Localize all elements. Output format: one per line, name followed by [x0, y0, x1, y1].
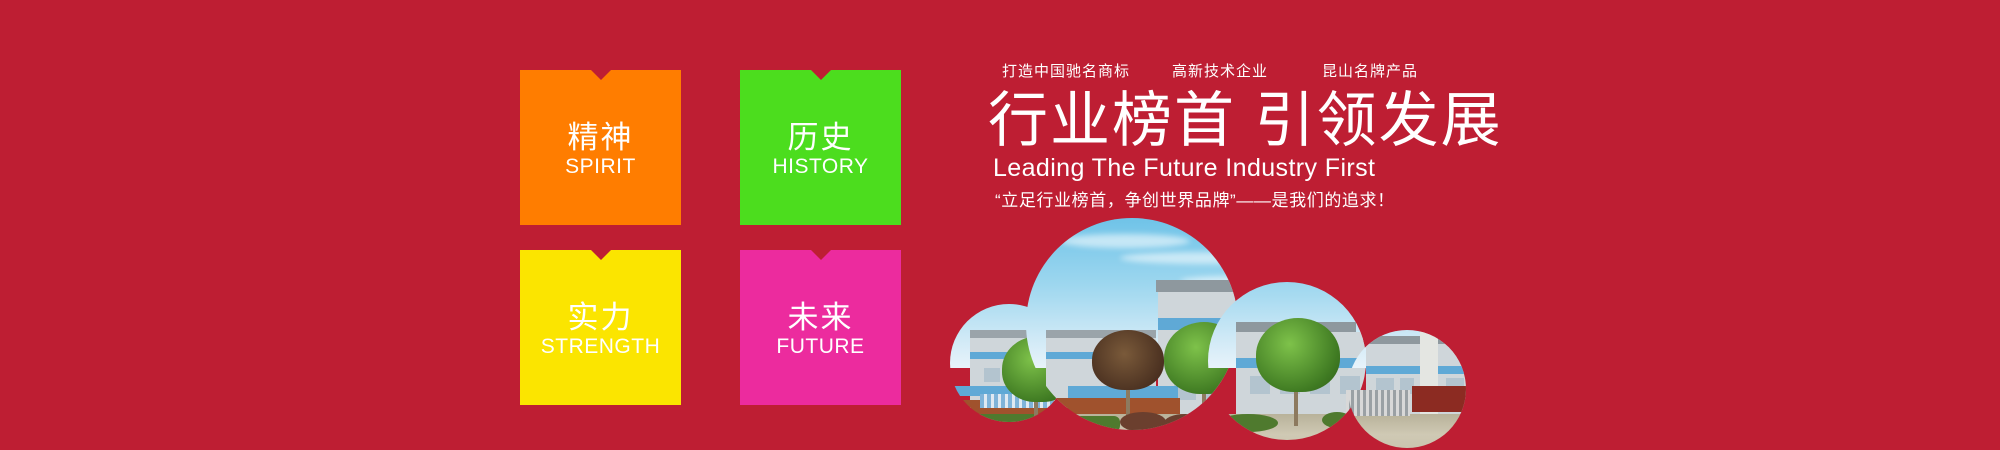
- tile-future-label-en: FUTURE: [776, 335, 864, 359]
- photo-circle-mid: [1208, 282, 1366, 440]
- tile-notch-icon: [591, 70, 611, 80]
- tile-spirit-label-en: SPIRIT: [565, 155, 636, 179]
- tile-history[interactable]: 历史 HISTORY: [740, 70, 901, 225]
- tile-strength-label-en: STRENGTH: [541, 335, 661, 359]
- headline: 行业榜首 引领发展: [988, 88, 1503, 154]
- tile-future[interactable]: 未来 FUTURE: [740, 250, 901, 405]
- tile-history-label-cn: 历史: [788, 122, 854, 155]
- badge-hightech: 高新技术企业: [1172, 60, 1322, 81]
- badge-trademark: 打造中国驰名商标: [1002, 60, 1172, 81]
- tile-future-label-cn: 未来: [787, 302, 853, 335]
- tile-spirit-label-cn: 精神: [568, 122, 634, 155]
- tile-strength-labels: 实力 STRENGTH: [541, 302, 661, 359]
- tile-notch-icon: [811, 70, 831, 80]
- tile-notch-icon: [811, 250, 831, 260]
- banner-stage: 精神 SPIRIT 历史 HISTORY 实力 STRENGTH 未来 FUTU…: [0, 0, 2000, 450]
- tile-history-labels: 历史 HISTORY: [772, 122, 868, 179]
- tile-strength-label-cn: 实力: [568, 302, 634, 335]
- photo-circle-right: [1348, 330, 1466, 448]
- factory-photo-cloud: [950, 218, 1510, 450]
- slogan-quote: “立足行业榜首，争创世界品牌”——是我们的追求！: [995, 192, 1395, 211]
- subheadline-english: Leading The Future Industry First: [993, 155, 1375, 183]
- tile-spirit-labels: 精神 SPIRIT: [565, 122, 636, 179]
- tile-spirit[interactable]: 精神 SPIRIT: [520, 70, 681, 225]
- badge-brand: 昆山名牌产品: [1322, 60, 1418, 81]
- tile-future-labels: 未来 FUTURE: [776, 302, 864, 359]
- tile-notch-icon: [591, 250, 611, 260]
- photo-circle-main: [1026, 218, 1238, 430]
- tile-history-label-en: HISTORY: [772, 155, 868, 179]
- badge-row: 打造中国驰名商标 高新技术企业 昆山名牌产品: [1002, 60, 1418, 81]
- tile-strength[interactable]: 实力 STRENGTH: [520, 250, 681, 405]
